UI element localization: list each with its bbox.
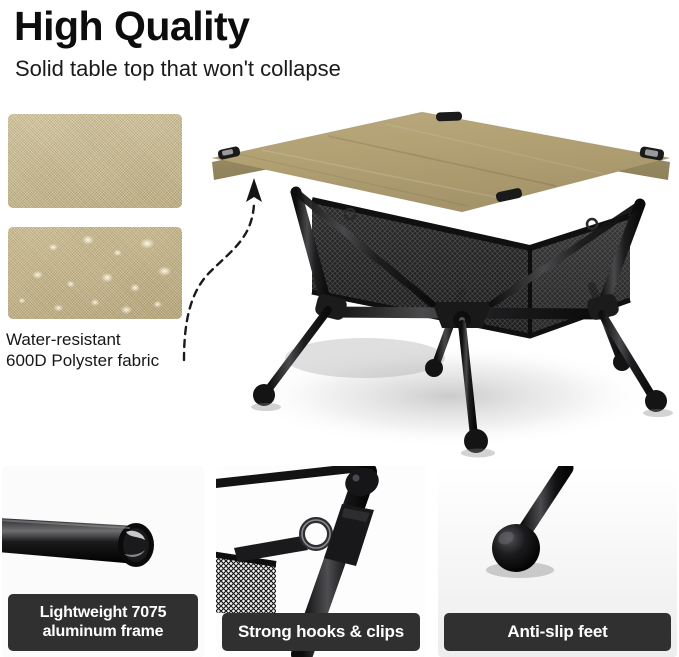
folding-camping-table-illustration bbox=[200, 96, 679, 462]
water-beading-fabric-swatch bbox=[8, 227, 182, 319]
feature-label-antislip-feet: Anti-slip feet bbox=[444, 613, 671, 651]
hero-section: Water-resistant 600D Polyster fabric bbox=[0, 96, 679, 462]
page-subtitle: Solid table top that won't collapse bbox=[15, 55, 341, 83]
feature-label-aluminum-frame: Lightweight 7075 aluminum frame bbox=[8, 594, 198, 651]
page-title: High Quality bbox=[14, 2, 249, 50]
woven-khaki-fabric-swatch bbox=[8, 114, 182, 208]
feature-label-line2: aluminum frame bbox=[43, 623, 164, 640]
feature-panels: Lightweight 7075 aluminum frame bbox=[0, 466, 679, 657]
feature-panel-antislip-feet[interactable]: Anti-slip feet bbox=[438, 466, 677, 657]
feature-panel-hooks-clips[interactable]: Strong hooks & clips bbox=[216, 466, 426, 657]
feature-label-line1: Lightweight 7075 bbox=[40, 604, 167, 621]
feature-panel-aluminum-frame[interactable]: Lightweight 7075 aluminum frame bbox=[2, 466, 204, 657]
feature-label-hooks-clips: Strong hooks & clips bbox=[222, 613, 420, 651]
